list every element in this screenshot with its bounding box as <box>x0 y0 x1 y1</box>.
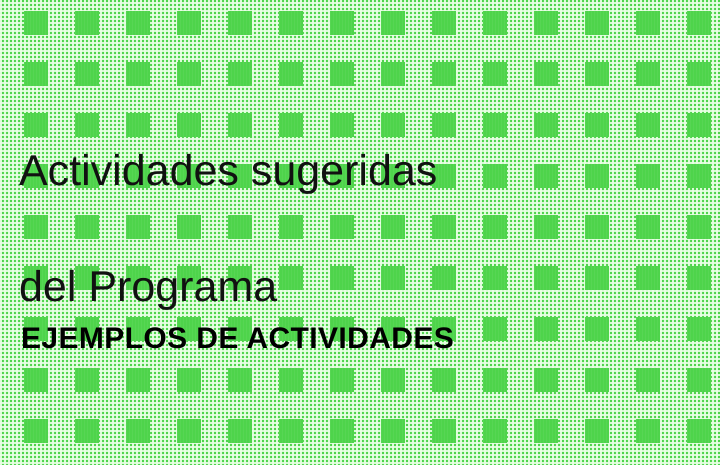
slide-canvas: Actividades sugeridas del Programa EJEMP… <box>0 0 720 465</box>
slide-title-line-2: del Programa <box>19 258 679 316</box>
slide-content: Actividades sugeridas del Programa EJEMP… <box>0 0 720 465</box>
slide-title-line-1: Actividades sugeridas <box>19 142 679 200</box>
slide-subtitle: EJEMPLOS DE ACTIVIDADES <box>21 322 454 356</box>
